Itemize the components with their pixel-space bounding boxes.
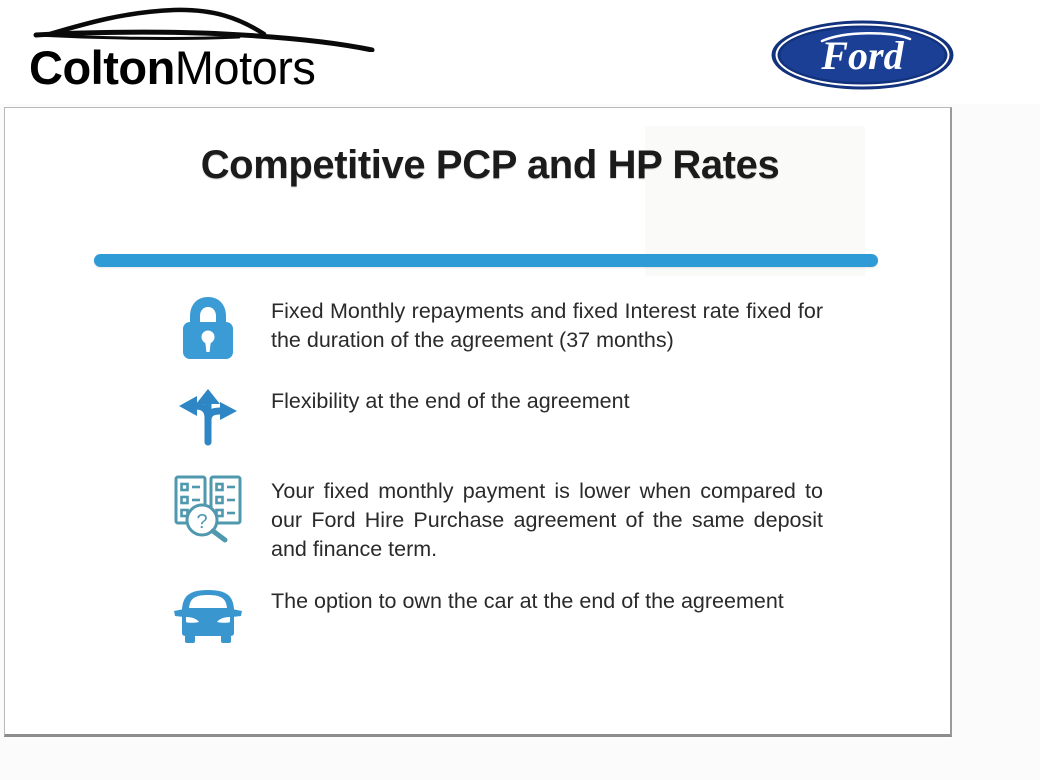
- car-front-icon: [171, 580, 245, 654]
- list-item: ? Your fixed monthly payment is lower wh…: [5, 470, 952, 564]
- list-item-label: Fixed Monthly repayments and fixed Inter…: [271, 290, 823, 355]
- brand-name-light: Motors: [175, 41, 316, 94]
- brand-name-bold: Colton: [29, 41, 175, 94]
- list-item-label: Flexibility at the end of the agreement: [271, 380, 823, 416]
- list-item: Flexibility at the end of the agreement: [5, 380, 952, 454]
- list-item-label: Your fixed monthly payment is lower when…: [271, 470, 823, 564]
- feature-list: Fixed Monthly repayments and fixed Inter…: [5, 290, 952, 670]
- brand-wordmark: ColtonMotors: [29, 44, 315, 91]
- colton-motors-logo[interactable]: ColtonMotors: [24, 4, 384, 102]
- three-way-arrows-icon: [171, 380, 245, 454]
- list-item-label: The option to own the car at the end of …: [271, 580, 823, 616]
- svg-text:?: ?: [196, 511, 207, 533]
- ford-logo-text: Ford: [820, 33, 904, 78]
- content-card: Competitive PCP and HP Rates Fixed Month…: [4, 107, 952, 737]
- top-banner: ColtonMotors Ford: [0, 0, 1040, 104]
- list-item: The option to own the car at the end of …: [5, 580, 952, 654]
- list-item: Fixed Monthly repayments and fixed Inter…: [5, 290, 952, 364]
- document-comparison-magnifier-icon: ?: [171, 470, 245, 544]
- page-title: Competitive PCP and HP Rates: [95, 138, 885, 192]
- padlock-icon: [171, 290, 245, 364]
- ford-oval-logo[interactable]: Ford: [770, 19, 955, 91]
- accent-divider-bar: [94, 254, 878, 267]
